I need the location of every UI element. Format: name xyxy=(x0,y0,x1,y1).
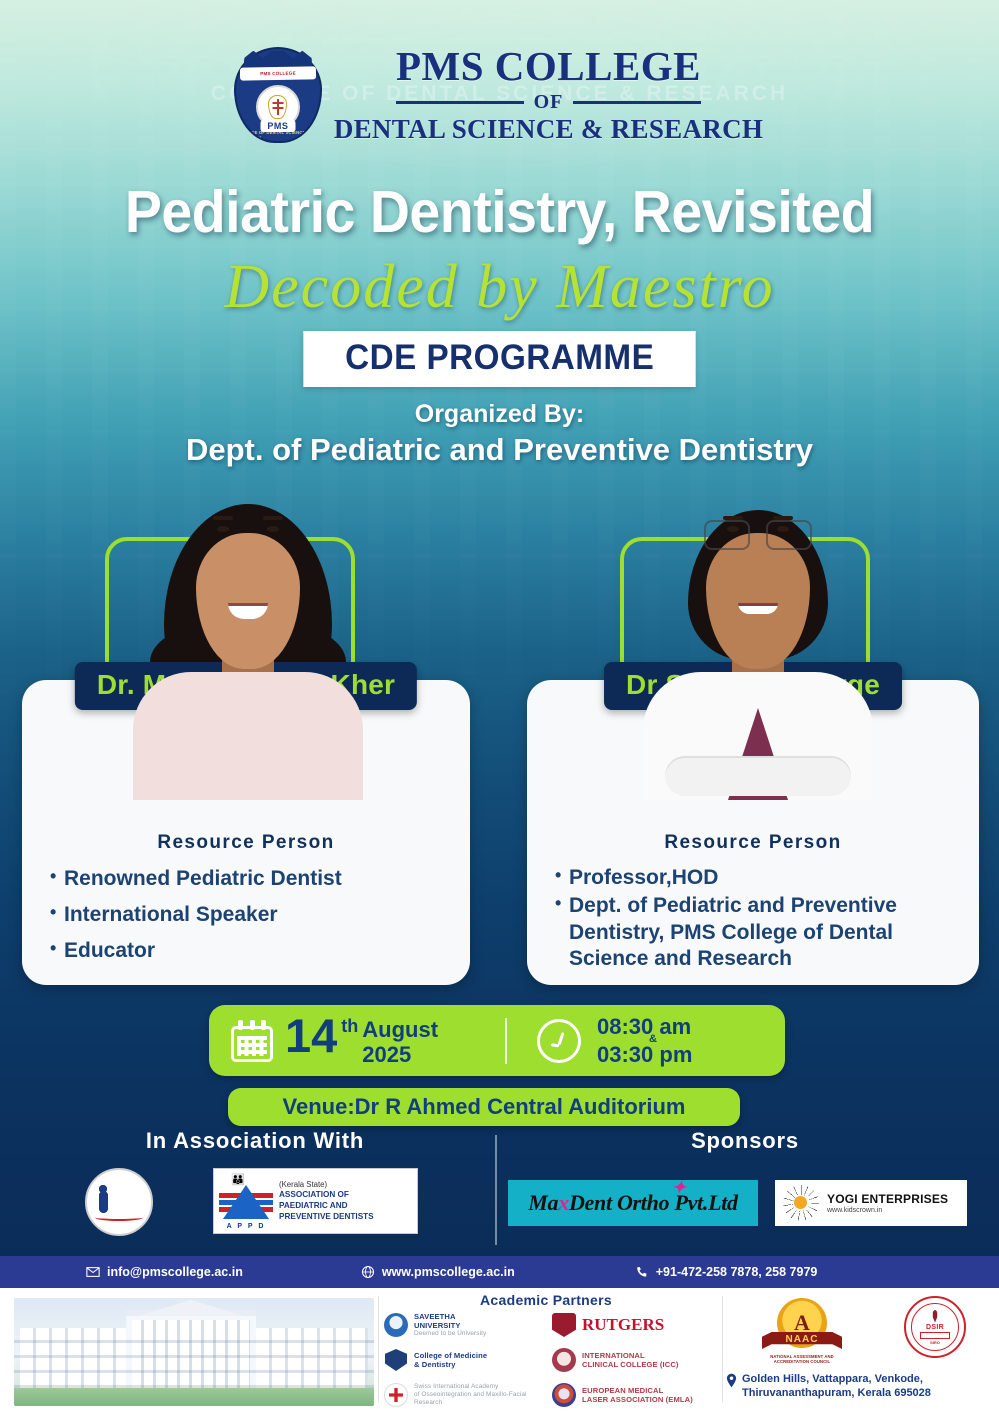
phone-icon xyxy=(635,1265,649,1279)
partner-line2: of Osseointegration and Maxillo-Facial R… xyxy=(414,1391,544,1407)
sponsors-title: Sponsors xyxy=(580,1128,910,1154)
swiss-academy-logo-icon xyxy=(384,1383,408,1407)
page-title: Pediatric Dentistry, Revisited xyxy=(30,178,969,246)
saveetha-logo-icon xyxy=(384,1313,408,1337)
yogi-name: YOGI ENTERPRISES xyxy=(827,1192,948,1207)
campus-photo xyxy=(14,1298,374,1406)
list-item: SAVEETHA UNIVERSITY Deemed to be Univers… xyxy=(384,1312,544,1338)
footer-divider-right xyxy=(722,1296,723,1402)
speaker-role-2: Resource Person xyxy=(527,832,979,854)
event-time-start: 08:30 am xyxy=(597,1013,692,1041)
list-item: EUROPEAN MEDICAL LASER ASSOCIATION (EMLA… xyxy=(552,1382,712,1408)
yogi-url: www.kidscrown.in xyxy=(827,1207,948,1214)
list-item: Swiss International Academy of Osseointe… xyxy=(384,1382,544,1408)
rule-right xyxy=(573,101,701,104)
organized-by-label: Organized By: xyxy=(0,400,999,429)
time-block: 08:30 am & 03:30 pm xyxy=(507,1013,692,1068)
pms-crest-icon: COLLEGE OF DENTAL SCIENCE & RESEARCH PMS… xyxy=(236,49,320,141)
partner-line1: INTERNATIONAL xyxy=(582,1351,679,1360)
address-line-1: Golden Hills, Vattappara, Venkode, xyxy=(742,1372,931,1386)
rutgers-shield-icon xyxy=(552,1313,576,1337)
clock-icon xyxy=(537,1019,581,1063)
association-title: In Association With xyxy=(70,1128,440,1154)
maxdent-pre: Ma xyxy=(528,1190,558,1215)
emblem-icon xyxy=(930,1310,940,1323)
sparkle-icon: ✦ xyxy=(672,1178,686,1198)
contact-strip: info@pmscollege.ac.in www.pmscollege.ac.… xyxy=(0,1256,999,1288)
section-divider xyxy=(495,1135,497,1245)
partner-line2: UNIVERSITY xyxy=(414,1321,486,1330)
academic-partners-left: SAVEETHA UNIVERSITY Deemed to be Univers… xyxy=(384,1312,544,1417)
event-month: August xyxy=(362,1018,438,1043)
calendar-icon xyxy=(231,1020,273,1062)
list-item: Renowned Pediatric Dentist xyxy=(50,865,442,894)
appd-line3: PREVENTIVE DENTISTS xyxy=(279,1212,374,1223)
iap-logo-icon xyxy=(85,1168,153,1236)
contact-phone-text: +91-472-258 7878, 258 7979 xyxy=(656,1265,818,1279)
venue-bar: Venue:Dr R Ahmed Central Auditorium xyxy=(228,1088,740,1126)
speaker-photo-2 xyxy=(628,470,888,800)
partner-line2: CLINICAL COLLEGE (ICC) xyxy=(582,1360,679,1369)
cde-badge-wrap: CDE PROGRAMME xyxy=(0,331,999,387)
speaker-photo-1 xyxy=(118,470,378,800)
sponsor-logo-maxdent: ✦ MaxDent Ortho Pvt.Ltd xyxy=(508,1180,758,1226)
event-day: 14 xyxy=(285,1014,337,1057)
of-row: OF xyxy=(334,91,763,114)
naac-caption: NATIONAL ASSESSMENT AND ACCREDITATION CO… xyxy=(756,1354,848,1364)
academic-partners-grid: SAVEETHA UNIVERSITY Deemed to be Univers… xyxy=(384,1312,714,1412)
partner-line1: RUTGERS xyxy=(582,1314,664,1335)
partner-line1: College of Medicine xyxy=(414,1351,487,1360)
dsir-label: DSIR xyxy=(926,1324,944,1331)
list-item: Dept. of Pediatric and Preventive Dentis… xyxy=(555,893,951,972)
maxdent-post: Dent Ortho Pvt.Ltd xyxy=(569,1190,738,1215)
college-medicine-logo-icon xyxy=(384,1348,408,1372)
event-day-suffix: th xyxy=(341,1016,358,1037)
event-time-joiner: & xyxy=(649,1033,657,1047)
appd-line1: ASSOCIATION OF xyxy=(279,1190,374,1201)
contact-phone[interactable]: +91-472-258 7878, 258 7979 xyxy=(635,1265,818,1279)
partner-line1: SAVEETHA xyxy=(414,1312,486,1321)
partner-line1: Swiss International Academy xyxy=(414,1383,544,1391)
icc-logo-icon xyxy=(552,1348,576,1372)
footer-divider-left xyxy=(378,1296,379,1402)
college-header: COLLEGE OF DENTAL SCIENCE & RESEARCH PMS… xyxy=(0,46,999,143)
address-block: Golden Hills, Vattappara, Venkode, Thiru… xyxy=(726,1372,994,1401)
accreditation-badges: A NAAC NATIONAL ASSESSMENT AND ACCREDITA… xyxy=(730,1296,992,1370)
address-line-2: Thiruvananthapuram, Kerala 695028 xyxy=(742,1386,931,1400)
college-name: PMS COLLEGE xyxy=(334,46,763,88)
list-item: RUTGERS xyxy=(552,1312,712,1338)
date-time-bar: 14 th August 2025 08:30 am & 03:30 pm xyxy=(209,1005,785,1076)
academic-partners-right: RUTGERS INTERNATIONAL CLINICAL COLLEGE (… xyxy=(552,1312,712,1417)
event-year: 2025 xyxy=(362,1043,438,1068)
crest-band-text: PMS xyxy=(260,120,295,132)
list-item: International Speaker xyxy=(50,901,442,930)
naac-badge-icon: A NAAC NATIONAL ASSESSMENT AND ACCREDITA… xyxy=(756,1296,848,1362)
emla-logo-icon xyxy=(552,1383,576,1407)
poster-canvas: COLLEGE OF DENTAL SCIENCE & RESEARCH COL… xyxy=(0,0,999,1417)
partner-line1: EUROPEAN MEDICAL xyxy=(582,1386,693,1395)
list-item: College of Medicine & Dentistry xyxy=(384,1347,544,1373)
academic-partners-title: Academic Partners xyxy=(384,1292,708,1308)
appd-line2: PAEDIATRIC AND xyxy=(279,1201,374,1212)
cde-badge: CDE PROGRAMME xyxy=(303,331,696,387)
appd-logo: 👪 A P P D (Kerala State) ASSOCIATION OF … xyxy=(213,1168,418,1234)
appd-state: (Kerala State) xyxy=(279,1180,374,1190)
sponsor-logo-yogi: YOGI ENTERPRISES www.kidscrown.in xyxy=(775,1180,967,1226)
partner-line2: & Dentistry xyxy=(414,1360,487,1369)
dsir-badge-icon: DSIR SIRO xyxy=(904,1296,966,1358)
dsir-sub2: SIRO xyxy=(930,1340,940,1345)
envelope-icon xyxy=(86,1265,100,1279)
contact-website-text: www.pmscollege.ac.in xyxy=(382,1265,515,1279)
contact-email[interactable]: info@pmscollege.ac.in xyxy=(86,1265,243,1279)
event-time-end: 03:30 pm xyxy=(597,1041,692,1069)
location-pin-icon xyxy=(726,1373,737,1388)
contact-website[interactable]: www.pmscollege.ac.in xyxy=(361,1265,515,1279)
sunburst-icon xyxy=(783,1185,819,1221)
organizer-name: Dept. of Pediatric and Preventive Dentis… xyxy=(0,432,999,468)
maxdent-x: x xyxy=(558,1190,569,1215)
date-block: 14 th August 2025 xyxy=(209,1014,505,1067)
subtitle-script: Decoded by Maestro xyxy=(0,252,999,323)
contact-email-text: info@pmscollege.ac.in xyxy=(107,1265,243,1279)
list-item: INTERNATIONAL CLINICAL COLLEGE (ICC) xyxy=(552,1347,712,1373)
speaker-role-1: Resource Person xyxy=(22,832,470,854)
appd-acronym: A P P D xyxy=(219,1223,273,1230)
partner-sub: Deemed to be University xyxy=(414,1330,486,1338)
speaker-bullets-2: Professor,HOD Dept. of Pediatric and Pre… xyxy=(527,865,979,974)
appd-mark-icon: 👪 A P P D xyxy=(219,1173,273,1229)
college-subtitle: DENTAL SCIENCE & RESEARCH xyxy=(334,115,763,143)
list-item: Professor,HOD xyxy=(555,865,951,891)
globe-icon xyxy=(361,1265,375,1279)
speaker-bullets-1: Renowned Pediatric Dentist International… xyxy=(22,865,470,973)
partner-line2: LASER ASSOCIATION (EMLA) xyxy=(582,1395,693,1404)
list-item: Educator xyxy=(50,937,442,966)
rule-left xyxy=(396,101,524,104)
of-label: OF xyxy=(534,91,564,114)
crest-ribbon-text: PMS COLLEGE xyxy=(240,66,316,80)
